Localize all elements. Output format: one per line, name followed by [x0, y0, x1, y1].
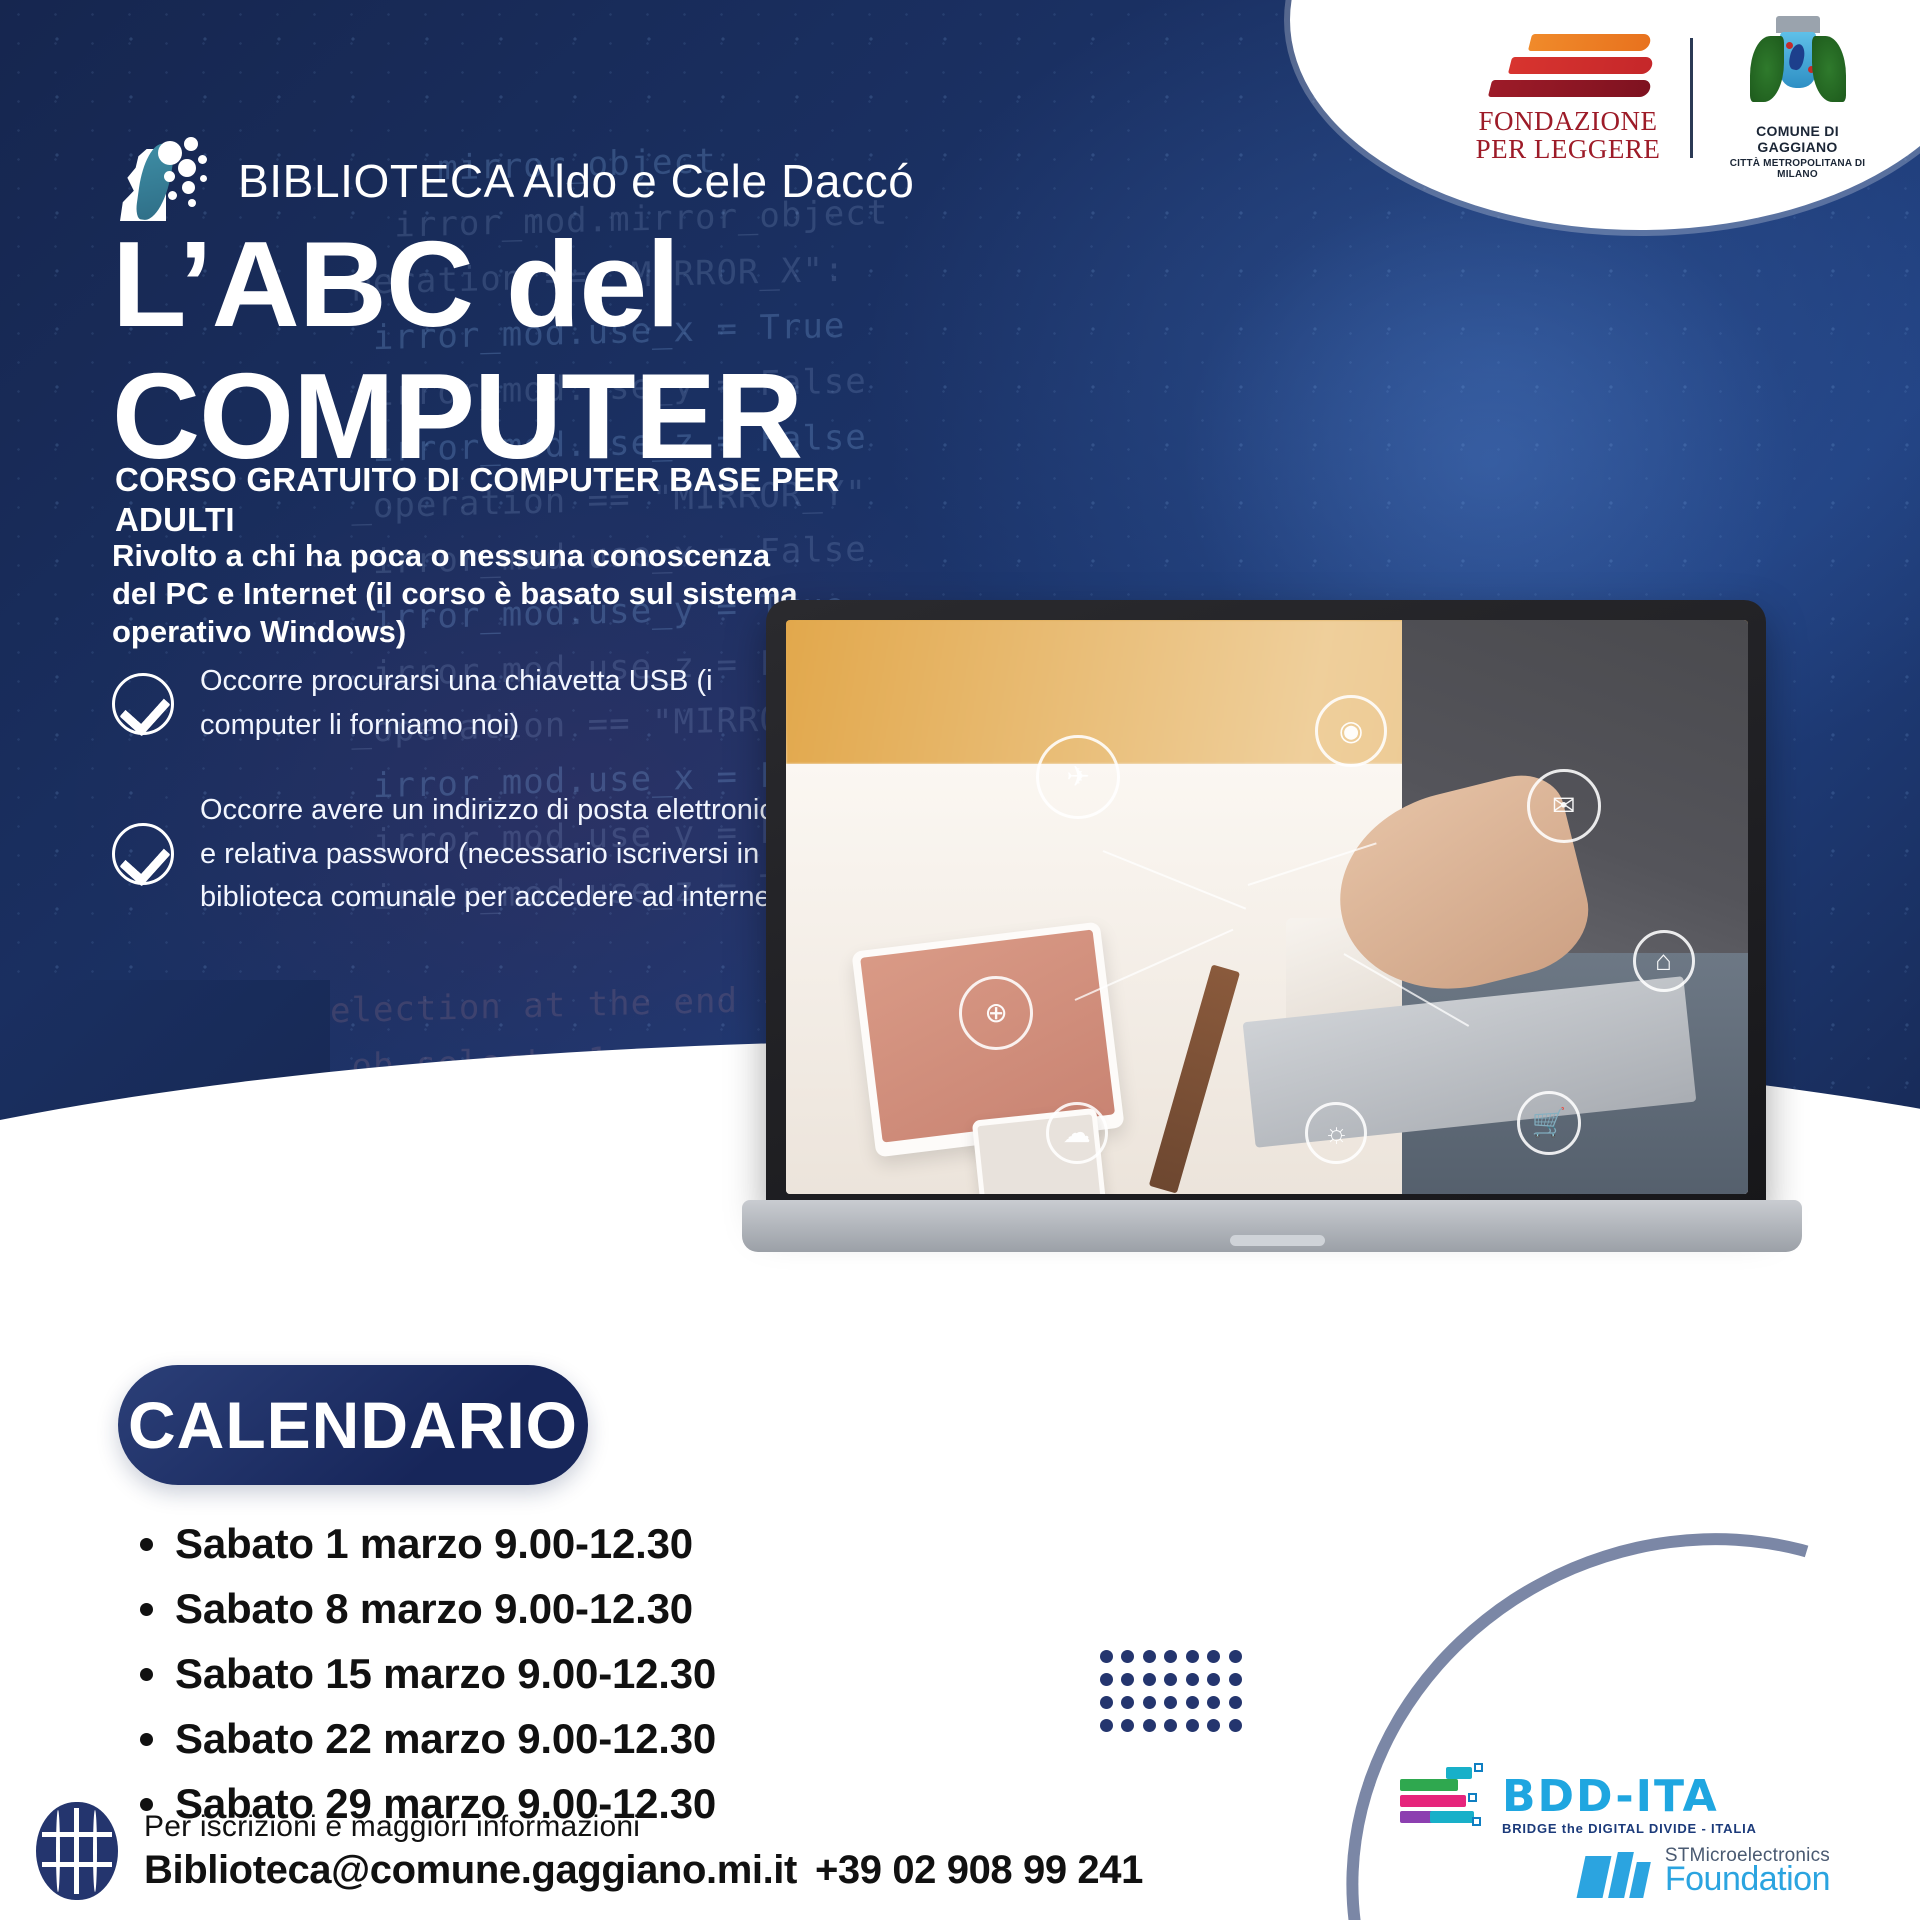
calendar-heading-badge: CALENDARIO	[118, 1365, 588, 1485]
partner-logos: FONDAZIONE PER LEGGERE COMUNE DI GAGGIAN…	[1400, 18, 1880, 178]
comune-di-gaggiano-crest-icon	[1750, 16, 1846, 120]
footer-intro: Per iscrizioni e maggiori informazioni	[144, 1810, 1143, 1844]
home-icon: ⌂	[1633, 930, 1695, 992]
course-kicker: CORSO GRATUITO DI COMPUTER BASE PER ADUL…	[115, 460, 855, 539]
globe-grid-icon: ⊕	[959, 976, 1033, 1050]
bullet-icon	[140, 1603, 153, 1616]
list-item: Sabato 1 marzo 9.00-12.30	[140, 1520, 840, 1568]
location-pin-icon: ◉	[1315, 695, 1387, 767]
logo-divider	[1690, 38, 1693, 158]
bdd-ita-circuit-logo-icon	[1400, 1777, 1492, 1835]
requirement-text: Occorre avere un indirizzo di posta elet…	[200, 789, 792, 920]
bullet-icon	[140, 1733, 153, 1746]
comune-di-gaggiano-logo: COMUNE DI GAGGIANO CITTÀ METROPOLITANA D…	[1715, 16, 1880, 180]
list-item: Occorre procurarsi una chiavetta USB (i …	[112, 660, 792, 747]
airplane-icon: ✈	[1036, 735, 1120, 819]
municipality-line2: CITTÀ METROPOLITANA DI MILANO	[1715, 158, 1880, 180]
laptop-photo: ✈ ◉ ✉ ⊕ ☁ ☼ 🛒 ⌂	[742, 600, 1920, 1340]
foundation-line2: PER LEGGERE	[1476, 136, 1661, 164]
envelope-icon: ✉	[1527, 769, 1601, 843]
calendar-session-list: Sabato 1 marzo 9.00-12.30 Sabato 8 marzo…	[140, 1520, 840, 1845]
calendar-heading: CALENDARIO	[128, 1387, 578, 1463]
cloud-icon: ☁	[1046, 1102, 1108, 1164]
footer-phone[interactable]: +39 02 908 99 241	[815, 1848, 1143, 1892]
session-text: Sabato 1 marzo 9.00-12.30	[175, 1520, 693, 1568]
library-header: BIBLIOTECA Aldo e Cele Daccó	[118, 135, 914, 227]
globe-icon	[36, 1802, 118, 1900]
library-name: BIBLIOTECA Aldo e Cele Daccó	[238, 154, 914, 208]
laptop-base	[742, 1200, 1802, 1252]
session-text: Sabato 22 marzo 9.00-12.30	[175, 1715, 716, 1763]
check-circle-icon	[112, 673, 174, 735]
title-line-1: L’ABC del	[112, 216, 679, 352]
check-circle-icon	[112, 823, 174, 885]
fondazione-per-leggere-swoosh-icon	[1478, 32, 1658, 108]
bullet-icon	[140, 1668, 153, 1681]
bdd-ita-logo: BDD-ITA BRIDGE the DIGITAL DIVIDE - ITAL…	[1400, 1775, 1830, 1836]
list-item: Occorre avere un indirizzo di posta elet…	[112, 789, 792, 920]
stm-line2: Foundation	[1665, 1862, 1830, 1898]
poster-root: mirror_object irror_mod.mirror_object pe…	[0, 0, 1920, 1920]
session-text: Sabato 15 marzo 9.00-12.30	[175, 1650, 716, 1698]
shopping-cart-icon: 🛒	[1517, 1091, 1581, 1155]
requirements-list: Occorre procurarsi una chiavetta USB (i …	[112, 660, 792, 962]
course-description: Rivolto a chi ha poca o nessuna conoscen…	[112, 537, 832, 650]
stmicroelectronics-foundation-logo-icon	[1581, 1852, 1655, 1898]
municipality-line1: COMUNE DI GAGGIANO	[1715, 123, 1880, 155]
sponsor-wordmark: BDD-ITA	[1502, 1775, 1757, 1819]
list-item: Sabato 15 marzo 9.00-12.30	[140, 1650, 840, 1698]
bullet-icon	[140, 1538, 153, 1551]
foundation-line1: FONDAZIONE	[1479, 108, 1658, 136]
sponsor-logos: BDD-ITA BRIDGE the DIGITAL DIVIDE - ITAL…	[1400, 1775, 1830, 1898]
page-title: L’ABC del COMPUTER	[112, 222, 992, 479]
library-face-dots-logo-icon	[118, 135, 210, 227]
sponsor-tagline: BRIDGE the DIGITAL DIVIDE - ITALIA	[1502, 1821, 1757, 1836]
footer-contact: Per iscrizioni e maggiori informazioni B…	[36, 1802, 1143, 1900]
laptop-lid: ✈ ◉ ✉ ⊕ ☁ ☼ 🛒 ⌂	[766, 600, 1766, 1210]
fondazione-per-leggere-logo: FONDAZIONE PER LEGGERE	[1468, 32, 1668, 163]
decorative-dot-grid	[1100, 1650, 1250, 1742]
footer-email[interactable]: Biblioteca@comune.gaggiano.mi.it	[144, 1848, 797, 1892]
session-text: Sabato 8 marzo 9.00-12.30	[175, 1585, 693, 1633]
list-item: Sabato 22 marzo 9.00-12.30	[140, 1715, 840, 1763]
requirement-text: Occorre procurarsi una chiavetta USB (i …	[200, 660, 792, 747]
stmicroelectronics-foundation-logo: STMicroelectronics Foundation	[1400, 1846, 1830, 1898]
list-item: Sabato 8 marzo 9.00-12.30	[140, 1585, 840, 1633]
laptop-screen: ✈ ◉ ✉ ⊕ ☁ ☼ 🛒 ⌂	[786, 620, 1748, 1194]
